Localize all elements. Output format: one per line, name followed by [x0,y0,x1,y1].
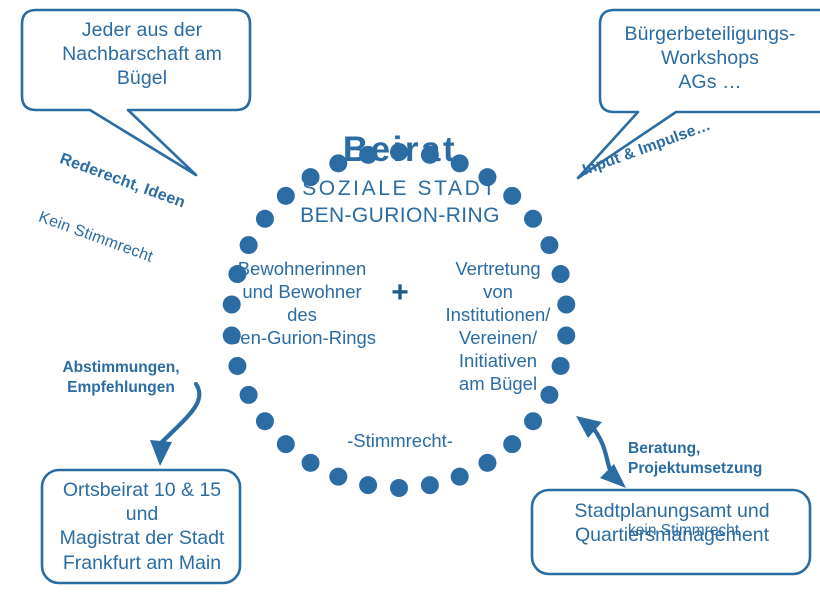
ring-dot [524,412,542,430]
ring-dot [390,479,408,497]
page-title: Beirat [300,128,500,171]
label-rederecht-bold: Rederecht, Ideen [57,149,188,214]
ring-dot [228,357,246,375]
label-beratung: Beratung, Projektumsetzung kein Stimmrec… [628,398,788,582]
ring-dot [451,468,469,486]
ring-dot [302,454,320,472]
ring-dot [503,435,521,453]
ring-dot [277,435,295,453]
ring-dot [540,236,558,254]
label-rederecht-regular: Kein Stimmrecht [35,208,166,273]
ring-dot [359,476,377,494]
ring-dot [329,468,347,486]
arrowhead-down [150,440,172,466]
bubble-text-top-left: Jeder aus der Nachbarschaft am Bügel [44,18,240,91]
ring-dot [256,412,274,430]
arrow-beratung [576,416,626,488]
title-subtitle-2: BEN-GURION-RING [290,203,510,229]
plus-icon: + [378,274,422,311]
diagram-canvas: Jeder aus der Nachbarschaft am Bügel Bür… [0,0,820,600]
bubble-text-top-right: Bürgerbeteiligungs- Workshops AGs … [606,22,814,95]
center-footer-note: -Stimmrecht- [320,430,480,453]
label-beratung-regular: kein Stimmrecht [628,521,788,541]
arrowhead-down-right [600,464,626,488]
center-column-right: Vertretung von Institutionen/ Vereinen/ … [418,258,578,396]
ring-dot [240,236,258,254]
title-subtitle-1: SOZIALE STADT [290,176,510,202]
ring-dot [478,454,496,472]
label-beratung-bold: Beratung, Projektumsetzung [628,439,788,480]
box-text-bottom-left: Ortsbeirat 10 & 15 und Magistrat der Sta… [44,478,240,575]
ring-dot [256,210,274,228]
center-column-left: Bewohnerinnen und Bewohner des Ben-Gurio… [218,258,386,350]
ring-dot [421,476,439,494]
ring-dot [524,210,542,228]
label-abstimmungen: Abstimmungen, Empfehlungen [46,358,196,399]
ring-dot [240,386,258,404]
